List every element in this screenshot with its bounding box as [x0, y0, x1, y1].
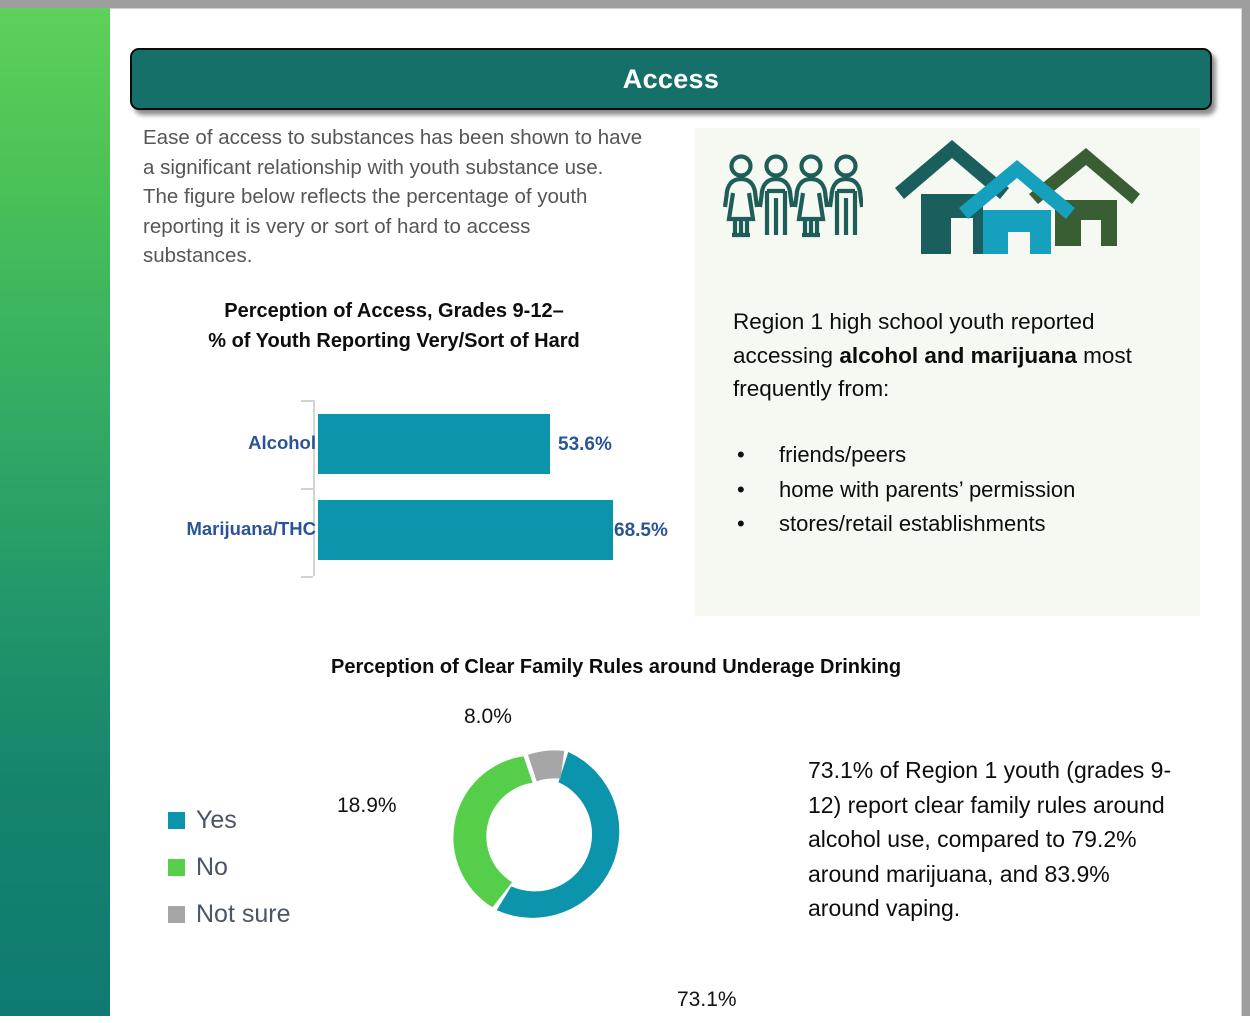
legend-swatch-notsure	[168, 906, 185, 923]
bar-value-marijuana: 68.5%	[614, 520, 668, 542]
legend-item-no[interactable]: No	[168, 855, 290, 880]
intro-paragraph: Ease of access to substances has been sh…	[143, 123, 643, 271]
info-panel-list: • friends/peers • home with parents’ per…	[733, 438, 1183, 542]
donut-value-label-notsure: 8.0%	[464, 705, 512, 729]
donut-slice-no	[453, 756, 532, 907]
legend-label-yes: Yes	[196, 808, 237, 833]
donut-chart-title: Perception of Clear Family Rules around …	[331, 656, 901, 679]
legend-label-notsure: Not sure	[196, 902, 290, 927]
houses-icon	[895, 136, 1140, 254]
page-title: Access	[623, 64, 719, 95]
legend-label-no: No	[196, 855, 228, 880]
donut-legend: Yes No Not sure	[168, 808, 290, 949]
legend-swatch-yes	[168, 812, 185, 829]
info-panel: Region 1 high school youth reported acce…	[695, 128, 1200, 616]
donut-chart	[438, 723, 654, 1023]
list-item: • stores/retail establishments	[733, 507, 1183, 542]
lead-bold: alcohol and marijuana	[839, 343, 1077, 368]
legend-item-yes[interactable]: Yes	[168, 808, 290, 833]
list-item-label: stores/retail establishments	[779, 507, 1046, 542]
axis-tick-mid	[301, 488, 313, 490]
bar-value-alcohol: 53.6%	[558, 434, 612, 456]
bar-alcohol	[318, 414, 550, 474]
people-group-icon	[723, 153, 863, 239]
donut-value-label-no: 18.9%	[337, 794, 397, 818]
header-banner: Access	[130, 48, 1212, 110]
axis-tick-bottom	[301, 576, 313, 578]
bar-chart-title-line1: Perception of Access, Grades 9-12–	[138, 296, 650, 326]
bullet-icon: •	[733, 473, 779, 508]
list-item-label: friends/peers	[779, 438, 906, 473]
legend-item-notsure[interactable]: Not sure	[168, 902, 290, 927]
bar-chart-title-line2: % of Youth Reporting Very/Sort of Hard	[138, 326, 650, 356]
left-gradient-stripe	[0, 8, 110, 1016]
bar-chart: Perception of Access, Grades 9-12– % of …	[130, 296, 690, 596]
bar-category-label-marijuana: Marijuana/THC	[186, 518, 316, 540]
donut-slice-notsure	[528, 750, 564, 781]
legend-swatch-no	[168, 859, 185, 876]
bullet-icon: •	[733, 438, 779, 473]
bar-chart-axis	[313, 400, 315, 576]
top-border-line	[0, 8, 1242, 9]
page-canvas: Access Ease of access to substances has …	[0, 0, 1250, 1016]
bar-category-label-alcohol: Alcohol	[248, 432, 316, 454]
donut-side-text: 73.1% of Region 1 youth (grades 9-12) re…	[808, 753, 1173, 926]
bar-marijuana	[318, 500, 613, 560]
donut-svg	[438, 723, 654, 939]
bullet-icon: •	[733, 507, 779, 542]
list-item-label: home with parents’ permission	[779, 473, 1075, 508]
donut-value-label-yes: 73.1%	[677, 988, 737, 1012]
list-item: • home with parents’ permission	[733, 473, 1183, 508]
bar-chart-title: Perception of Access, Grades 9-12– % of …	[138, 296, 650, 356]
axis-tick-top	[301, 400, 313, 402]
list-item: • friends/peers	[733, 438, 1183, 473]
info-panel-lead: Region 1 high school youth reported acce…	[733, 305, 1173, 406]
icon-row	[695, 128, 1200, 258]
